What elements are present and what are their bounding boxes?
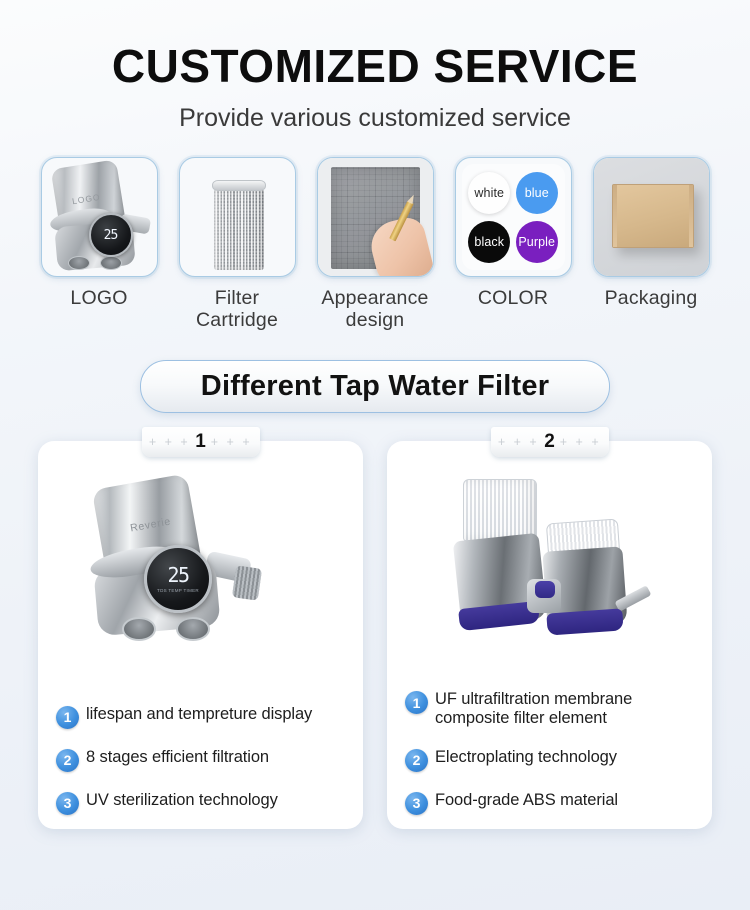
cartridge-mesh-shape bbox=[214, 188, 264, 270]
feature-text: 8 stages efficient filtration bbox=[86, 748, 269, 767]
page-header: CUSTOMIZED SERVICE Provide various custo… bbox=[0, 0, 750, 133]
tab-decor-right: + + + bbox=[211, 435, 252, 449]
section-banner: Different Tap Water Filter bbox=[140, 360, 610, 413]
list-item: 2 Electroplating technology bbox=[405, 748, 698, 772]
feature-text: UF ultrafiltration membrane composite fi… bbox=[435, 690, 698, 729]
faucet-knob-shape bbox=[232, 565, 262, 600]
feature-text: Food-grade ABS material bbox=[435, 791, 618, 810]
faucet-nozzles-shape bbox=[68, 256, 130, 272]
feature-badge: 3 bbox=[405, 792, 428, 815]
product-number-1: 1 bbox=[195, 431, 206, 453]
list-item: 1 UF ultrafiltration membrane composite … bbox=[405, 690, 698, 729]
led-display-value: 25 bbox=[104, 228, 118, 243]
color-swatch-purple[interactable]: Purple bbox=[516, 221, 558, 263]
feature-badge: 1 bbox=[405, 691, 428, 714]
product-2-feature-list: 1 UF ultrafiltration membrane composite … bbox=[405, 671, 698, 815]
filter-switch-button-shape bbox=[535, 581, 555, 598]
customization-item-logo[interactable]: LOGO 25 LOGO bbox=[41, 157, 158, 332]
product-tab-2: + + + 2 + + + bbox=[491, 427, 609, 457]
product-image-2 bbox=[387, 475, 712, 671]
color-swatches-icon: white blue black Purple bbox=[455, 157, 572, 277]
tab-decor-right: + + + bbox=[560, 435, 601, 449]
faucet-filter-logo-icon: LOGO 25 bbox=[41, 157, 158, 277]
page-subtitle: Provide various customized service bbox=[0, 104, 750, 133]
led-display-subtext: TDS TEMP TIMER bbox=[157, 588, 199, 593]
feature-text: lifespan and tempreture display bbox=[86, 705, 312, 724]
sketch-hand-pencil-icon bbox=[317, 157, 434, 277]
led-display-value: 25 bbox=[167, 565, 188, 585]
filter-cap-right-shape bbox=[546, 608, 623, 635]
product-cards-row: + + + 1 + + + Reverie 25 TDS TEMP TIMER … bbox=[0, 441, 750, 829]
customization-options-row: LOGO 25 LOGO Filter Cartridge Appearance… bbox=[0, 157, 750, 332]
customization-label-logo: LOGO bbox=[70, 288, 127, 310]
product-card-2[interactable]: + + + 2 + + + 1 UF ultrafiltration membr… bbox=[387, 441, 712, 829]
tab-decor-left: + + + bbox=[498, 435, 539, 449]
color-swatch-white[interactable]: white bbox=[468, 172, 510, 214]
list-item: 3 UV sterilization technology bbox=[56, 791, 349, 815]
list-item: 2 8 stages efficient filtration bbox=[56, 748, 349, 772]
feature-text: UV sterilization technology bbox=[86, 791, 278, 810]
clear-housing-shape bbox=[463, 479, 537, 541]
color-swatch-grid: white blue black Purple bbox=[462, 164, 565, 270]
feature-badge: 3 bbox=[56, 792, 79, 815]
customization-item-appearance-design[interactable]: Appearance design bbox=[317, 157, 434, 332]
packaging-box-shape bbox=[612, 184, 694, 248]
feature-badge: 2 bbox=[405, 749, 428, 772]
section-banner-wrap: Different Tap Water Filter bbox=[0, 360, 750, 413]
product-1-feature-list: 1 lifespan and tempreture display 2 8 st… bbox=[56, 686, 349, 815]
product-tab-1: + + + 1 + + + bbox=[142, 427, 260, 457]
product-image-1: Reverie 25 TDS TEMP TIMER bbox=[38, 475, 363, 671]
led-display-icon: 25 bbox=[89, 213, 133, 257]
section-banner-text: Different Tap Water Filter bbox=[201, 370, 549, 402]
customization-label-filter-cartridge: Filter Cartridge bbox=[179, 288, 296, 332]
color-swatch-blue[interactable]: blue bbox=[516, 172, 558, 214]
customization-label-color: COLOR bbox=[478, 288, 548, 310]
customization-item-filter-cartridge[interactable]: Filter Cartridge bbox=[179, 157, 296, 332]
customization-item-packaging[interactable]: Packaging bbox=[593, 157, 710, 332]
cartridge-cap-shape bbox=[212, 180, 266, 191]
customization-item-color[interactable]: white blue black Purple COLOR bbox=[455, 157, 572, 332]
feature-badge: 2 bbox=[56, 749, 79, 772]
feature-text: Electroplating technology bbox=[435, 748, 617, 767]
color-swatch-black[interactable]: black bbox=[468, 221, 510, 263]
filter-cartridge-icon bbox=[179, 157, 296, 277]
led-display-icon: 25 TDS TEMP TIMER bbox=[144, 545, 212, 613]
faucet-nozzles-shape bbox=[122, 617, 232, 643]
list-item: 1 lifespan and tempreture display bbox=[56, 705, 349, 729]
tab-decor-left: + + + bbox=[149, 435, 190, 449]
product-card-1[interactable]: + + + 1 + + + Reverie 25 TDS TEMP TIMER … bbox=[38, 441, 363, 829]
list-item: 3 Food-grade ABS material bbox=[405, 791, 698, 815]
customization-label-appearance-design: Appearance design bbox=[317, 288, 434, 332]
page-title: CUSTOMIZED SERVICE bbox=[0, 42, 750, 90]
customization-label-packaging: Packaging bbox=[605, 288, 698, 310]
cardboard-box-icon bbox=[593, 157, 710, 277]
product-number-2: 2 bbox=[544, 431, 555, 453]
feature-badge: 1 bbox=[56, 706, 79, 729]
